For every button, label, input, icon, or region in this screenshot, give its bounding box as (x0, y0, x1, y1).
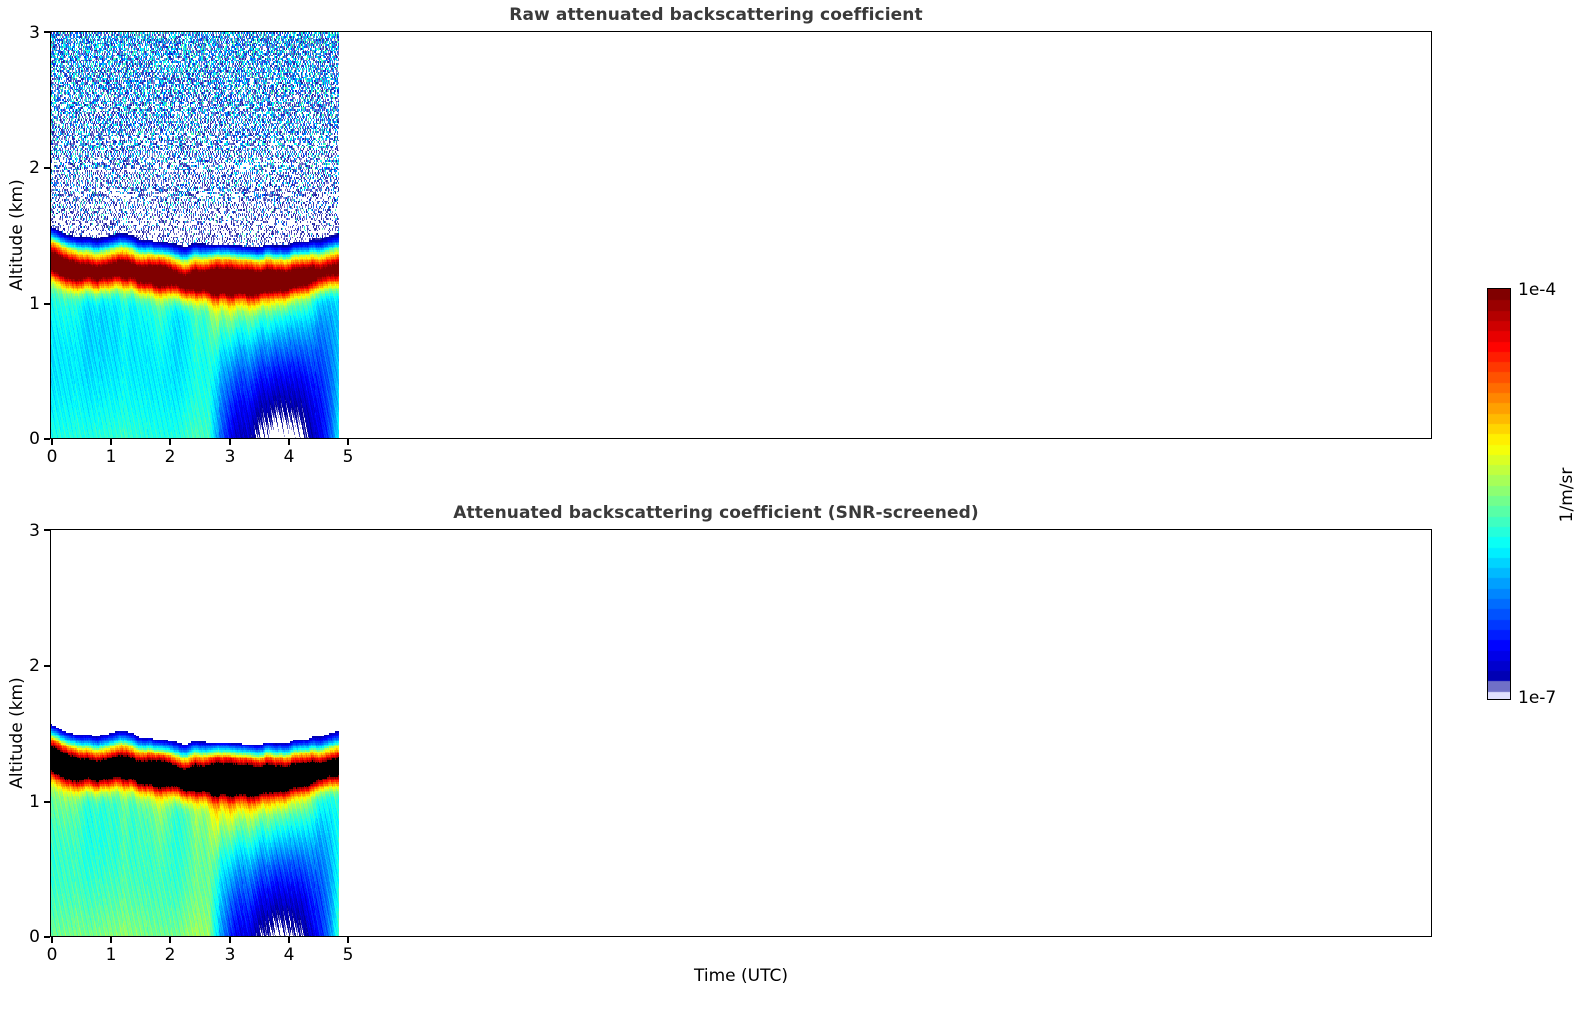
colorbar-gradient (1487, 288, 1511, 700)
heatmap-screened (51, 530, 1432, 937)
colorbar-tick-bottom: 1e-7 (1518, 688, 1556, 708)
axes-raw (50, 31, 1432, 439)
ytick-screened-2 (44, 665, 50, 667)
colorbar-label: 1/m/sr (1557, 425, 1577, 565)
yticklabel-screened-0: 0 (16, 927, 40, 947)
xtick-screened-1 (110, 937, 112, 943)
colorbar-tick-top: 1e-4 (1518, 280, 1556, 300)
xtick-raw-3 (229, 439, 231, 445)
xtick-screened-3 (229, 937, 231, 943)
xticklabel-raw-1: 1 (106, 447, 117, 467)
xtick-screened-4 (288, 937, 290, 943)
yticklabel-screened-3: 3 (16, 521, 40, 541)
panel-screened-title: Attenuated backscattering coefficient (S… (0, 503, 1432, 523)
xticklabel-screened-2: 2 (165, 945, 176, 965)
xticklabel-screened-1: 1 (106, 945, 117, 965)
yticklabel-raw-3: 3 (16, 23, 40, 43)
heatmap-raw (51, 32, 1432, 439)
ytick-screened-1 (44, 801, 50, 803)
xtick-screened-2 (169, 937, 171, 943)
xticklabel-screened-4: 4 (284, 945, 295, 965)
xtick-screened-5 (347, 937, 349, 943)
colorbar-canvas (1488, 289, 1511, 700)
xlabel-time: Time (UTC) (541, 966, 941, 986)
xticklabel-screened-0: 0 (47, 945, 58, 965)
xtick-raw-5 (347, 439, 349, 445)
xtick-raw-4 (288, 439, 290, 445)
ytick-raw-0 (44, 438, 50, 440)
xtick-screened-0 (51, 937, 53, 943)
xtick-raw-2 (169, 439, 171, 445)
xticklabel-raw-2: 2 (165, 447, 176, 467)
panel-raw: Raw attenuated backscattering coefficien… (0, 0, 1595, 470)
figure-canvas: Raw attenuated backscattering coefficien… (0, 0, 1595, 1020)
xticklabel-screened-5: 5 (343, 945, 354, 965)
ylabel-raw: Altitude (km) (7, 155, 27, 315)
xticklabel-raw-5: 5 (343, 447, 354, 467)
ytick-raw-2 (44, 167, 50, 169)
ytick-raw-1 (44, 303, 50, 305)
xticklabel-raw-4: 4 (284, 447, 295, 467)
panel-raw-title: Raw attenuated backscattering coefficien… (0, 5, 1432, 25)
colorbar: 1e-4 1e-7 1/m/sr (1470, 270, 1595, 720)
yticklabel-raw-0: 0 (16, 429, 40, 449)
ytick-raw-3 (44, 31, 50, 33)
xticklabel-raw-3: 3 (225, 447, 236, 467)
xtick-raw-0 (51, 439, 53, 445)
axes-screened (50, 529, 1432, 937)
ylabel-screened: Altitude (km) (7, 653, 27, 813)
xticklabel-screened-3: 3 (225, 945, 236, 965)
panel-screened: Attenuated backscattering coefficient (S… (0, 498, 1595, 968)
ytick-screened-0 (44, 936, 50, 938)
xticklabel-raw-0: 0 (47, 447, 58, 467)
ytick-screened-3 (44, 529, 50, 531)
xtick-raw-1 (110, 439, 112, 445)
